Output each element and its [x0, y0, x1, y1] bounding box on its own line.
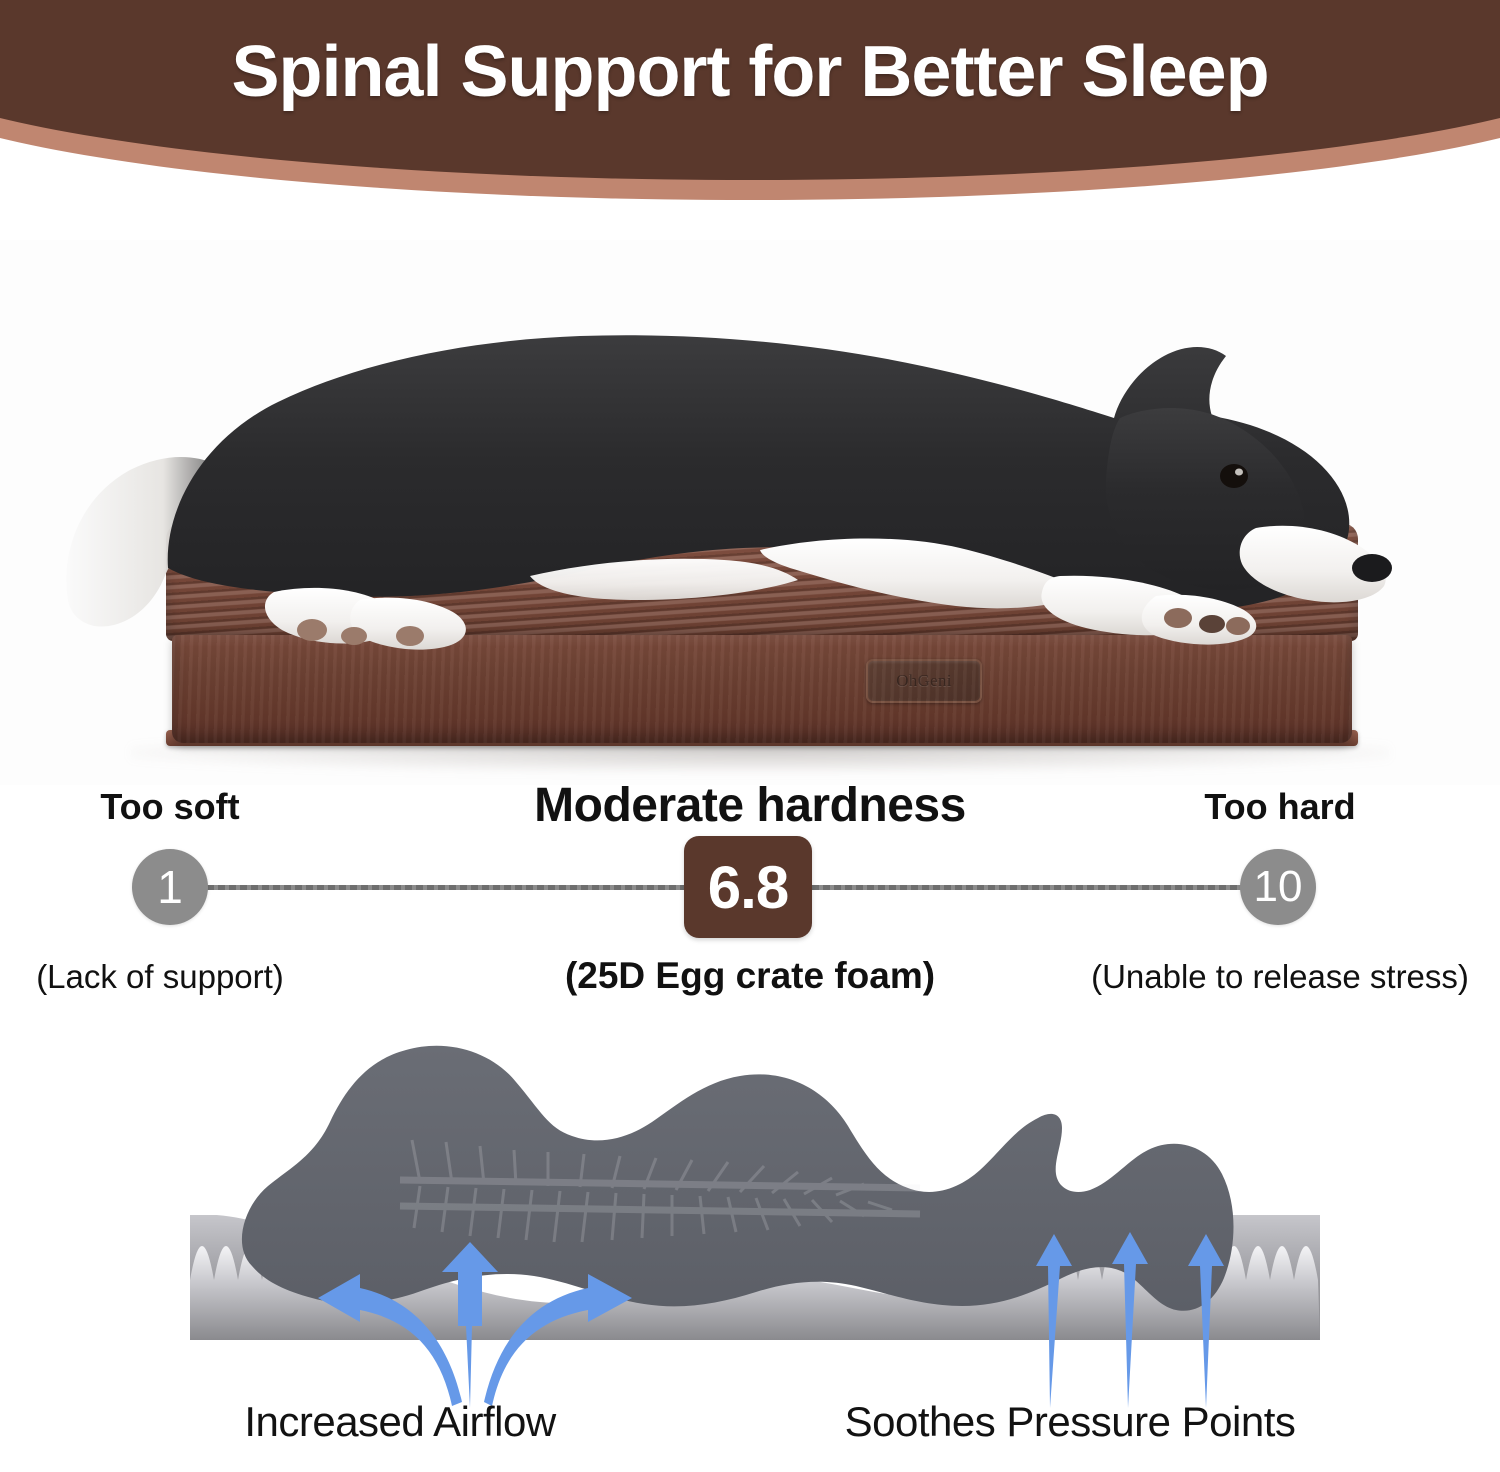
- header-banner: Spinal Support for Better Sleep: [0, 0, 1500, 240]
- product-photo: OhGeni: [0, 240, 1500, 785]
- caption-soothes-pressure: Soothes Pressure Points: [740, 1398, 1400, 1446]
- page-title: Spinal Support for Better Sleep: [0, 36, 1500, 108]
- scale-label-too-soft: Too soft: [0, 786, 340, 828]
- dog-photo: [60, 300, 1400, 660]
- scale-node-max: 10: [1240, 849, 1316, 925]
- scale-score-badge: 6.8: [684, 836, 812, 938]
- scale-sublabel-too-soft: (Lack of support): [0, 958, 330, 996]
- brand-logo-text: OhGeni: [896, 671, 952, 691]
- diagram-captions: Increased Airflow Soothes Pressure Point…: [0, 1398, 1500, 1460]
- scale-label-moderate: Moderate hardness: [430, 778, 1070, 833]
- scale-sublabel-moderate: (25D Egg crate foam): [440, 955, 1060, 997]
- scale-label-too-hard: Too hard: [1130, 786, 1430, 828]
- cross-section-diagram: [0, 1010, 1500, 1410]
- scale-sublabel-too-hard: (Unable to release stress): [1060, 958, 1500, 996]
- caption-increased-airflow: Increased Airflow: [150, 1398, 650, 1446]
- scale-node-min: 1: [132, 849, 208, 925]
- hardness-scale: Too soft Moderate hardness Too hard 1 6.…: [0, 786, 1500, 1001]
- brand-logo-tag: OhGeni: [866, 659, 982, 703]
